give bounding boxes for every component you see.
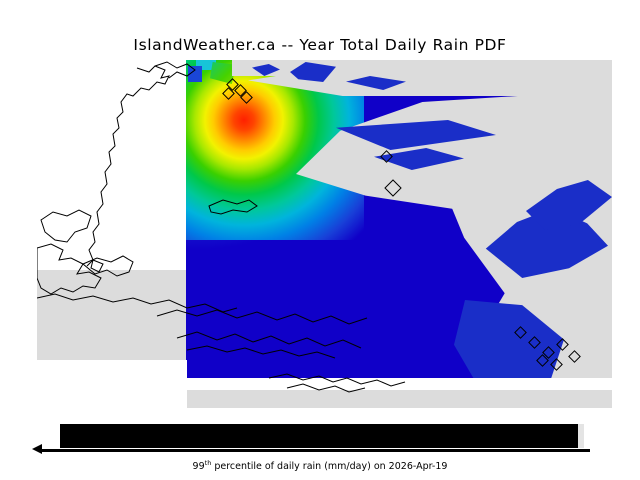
colorbar-axis-arrow-icon [32, 444, 42, 454]
colorbar [60, 424, 580, 448]
colorbar-caption: 99th percentile of daily rain (mm/day) o… [0, 459, 640, 472]
colorbar-saturated-tail [578, 424, 584, 448]
southwest-white-corner [37, 360, 187, 408]
caption-description: percentile of daily rain (mm/day) on 202… [211, 461, 447, 472]
page-title: IslandWeather.ca -- Year Total Daily Rai… [0, 36, 640, 54]
colorbar-gradient [60, 424, 580, 448]
caption-percentile-number: 99 [193, 461, 205, 472]
colorbar-axis-line [40, 449, 590, 452]
coastline-overlay [37, 60, 612, 408]
map-panel [37, 60, 612, 408]
